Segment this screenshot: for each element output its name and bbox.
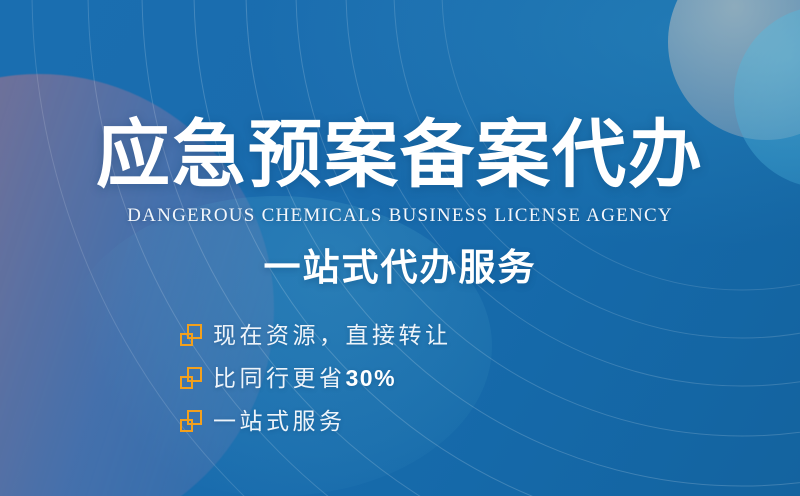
list-item-label: 一站式服务 — [213, 407, 346, 435]
chinese-subtitle: 一站式代办服务 — [0, 243, 800, 293]
discount-value: 30% — [346, 365, 397, 391]
english-subtitle: DANGEROUS CHEMICALS BUSINESS LICENSE AGE… — [0, 203, 800, 229]
promo-banner: 应急预案备案代办 DANGEROUS CHEMICALS BUSINESS LI… — [0, 0, 800, 496]
feature-list: 现在资源，直接转让 比同行更省30% 一站式服务 — [180, 316, 452, 445]
list-item-label-text: 比同行更省 — [213, 365, 346, 391]
list-item: 一站式服务 — [180, 402, 452, 440]
list-item-label: 现在资源，直接转让 — [213, 321, 452, 349]
page-title: 应急预案备案代办 — [0, 112, 800, 198]
list-item: 比同行更省30% — [180, 359, 452, 397]
list-item: 现在资源，直接转让 — [180, 316, 452, 354]
overlapping-squares-icon — [180, 324, 202, 346]
overlapping-squares-icon — [180, 367, 202, 389]
list-item-label: 比同行更省30% — [213, 364, 396, 392]
overlapping-squares-icon — [180, 410, 202, 432]
banner-content: 应急预案备案代办 DANGEROUS CHEMICALS BUSINESS LI… — [0, 0, 800, 496]
